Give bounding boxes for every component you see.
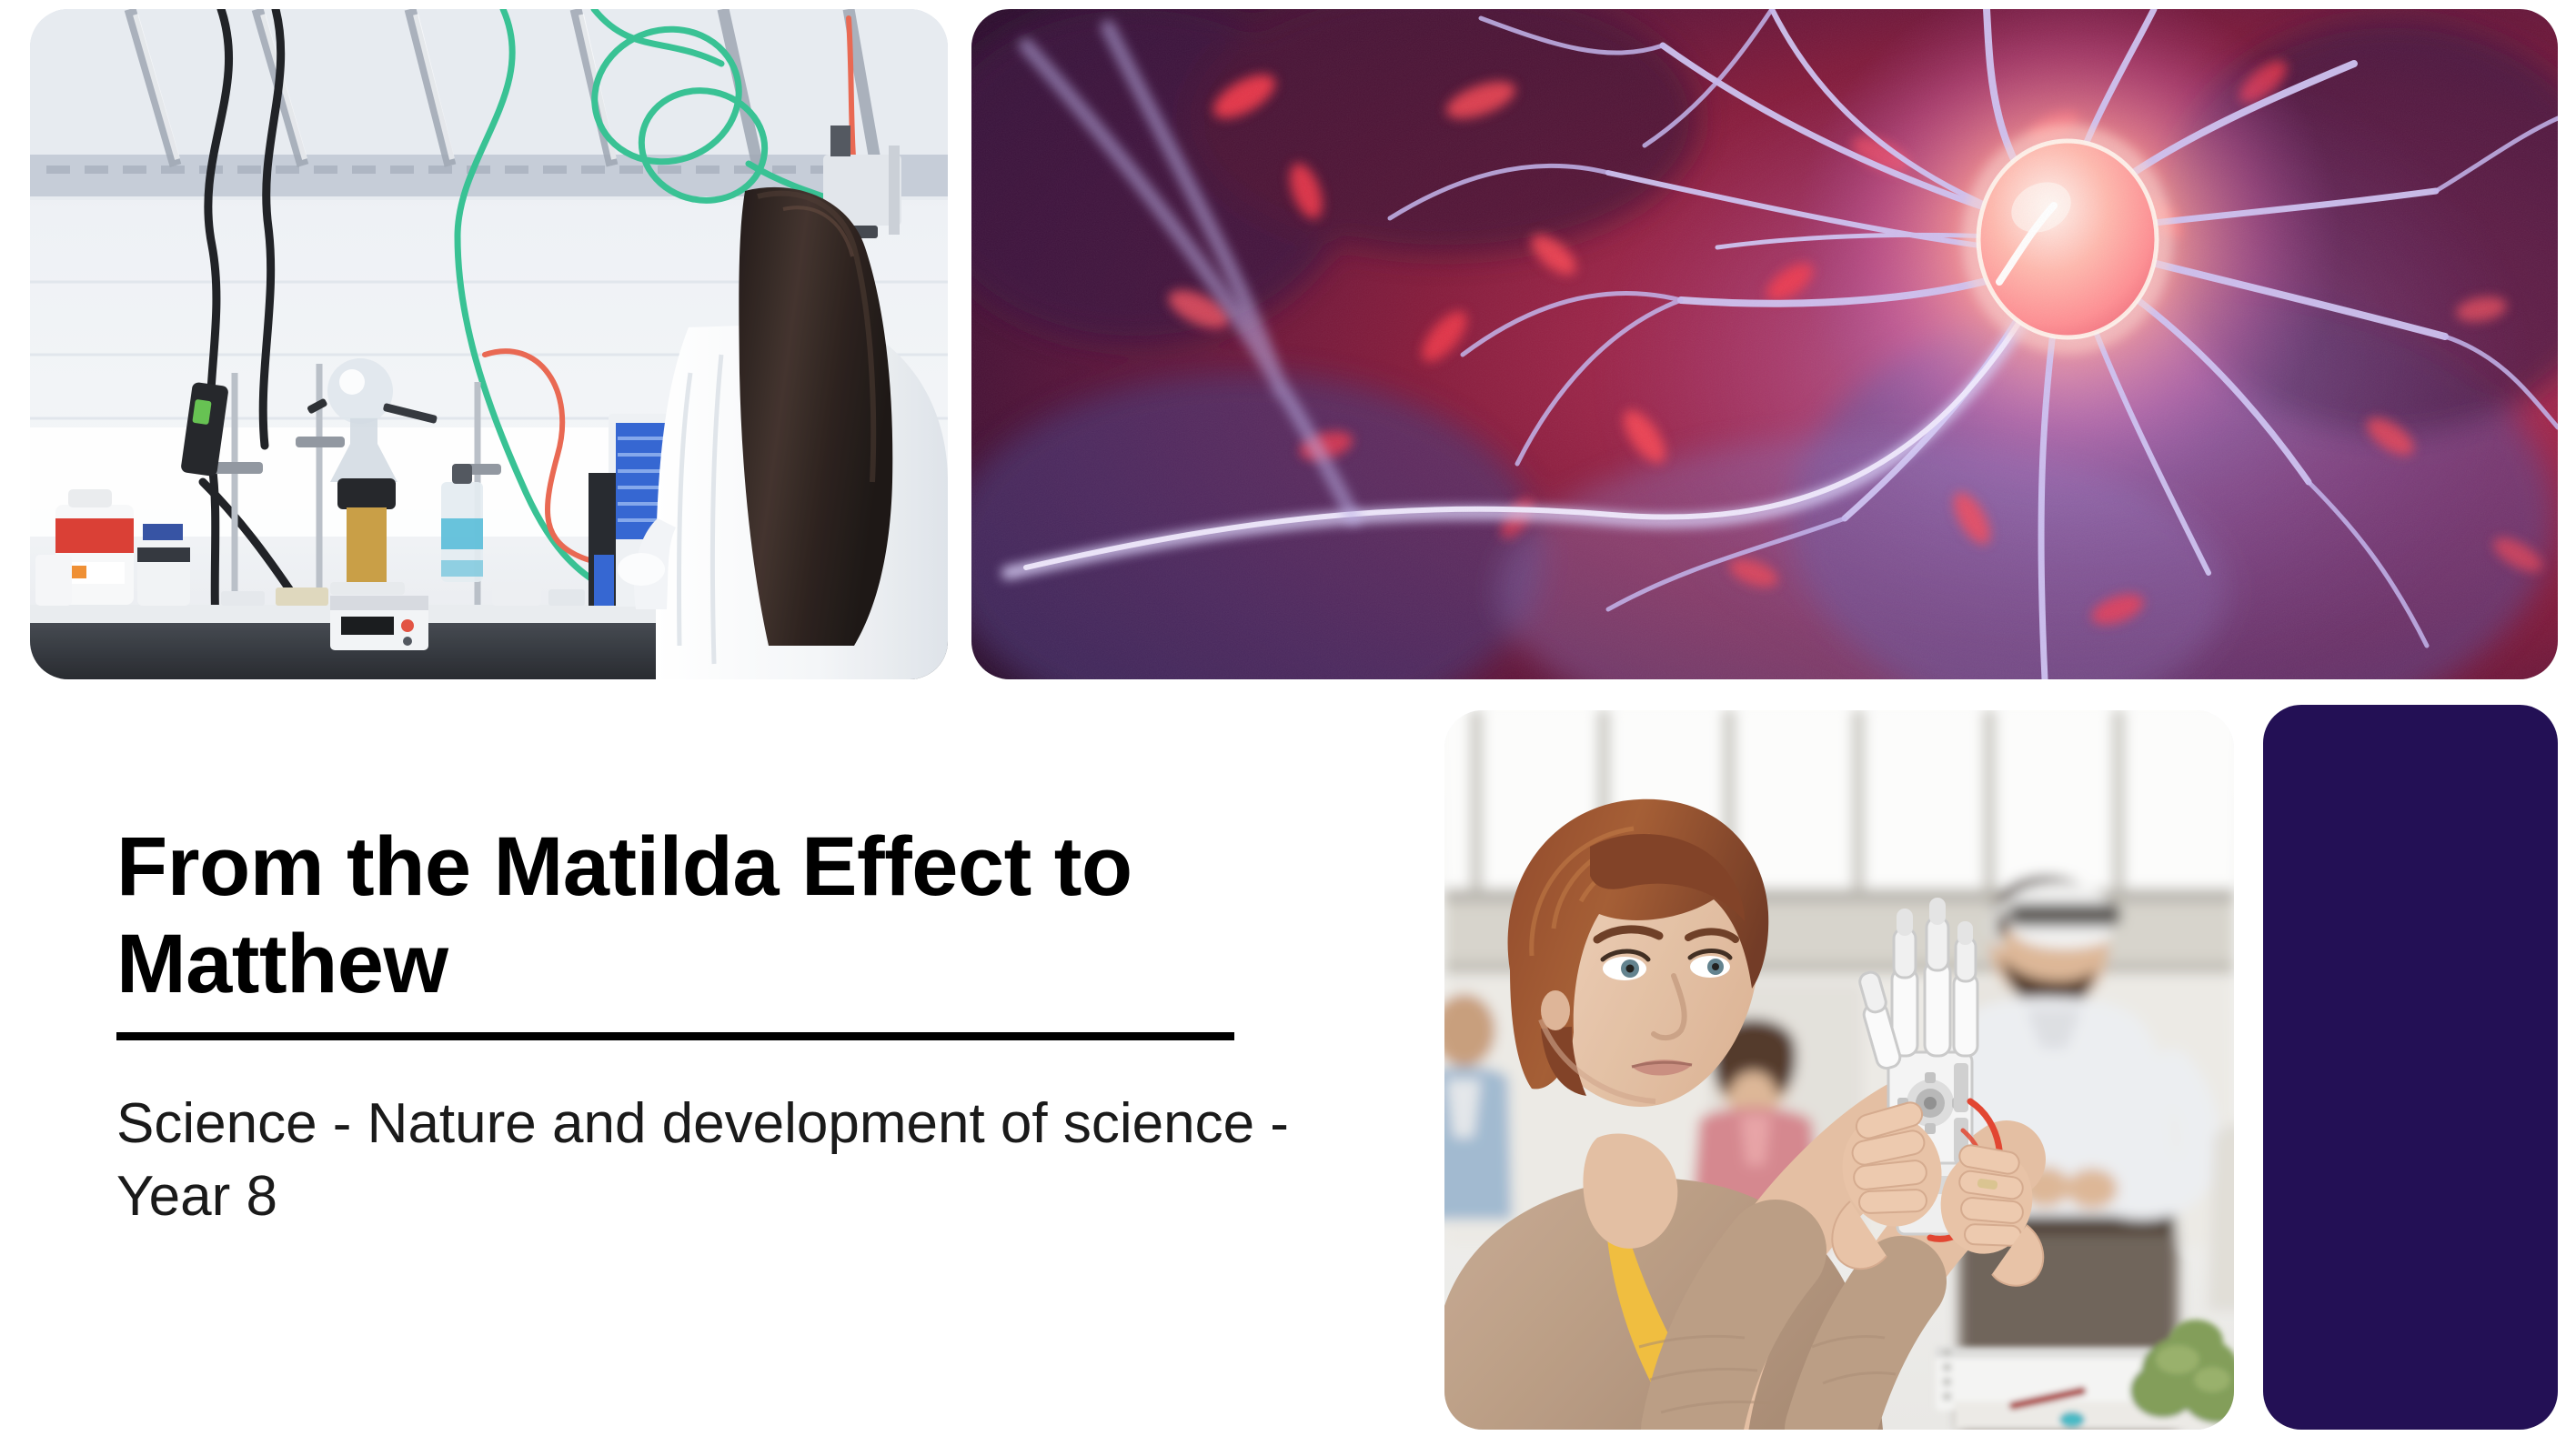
neuron-plasma-photo-card: [971, 9, 2558, 679]
lab-photo-card: [30, 9, 948, 679]
lab-photo-illustration: [30, 9, 948, 679]
brand-panel: COOL.ORG: [2263, 705, 2558, 1430]
slide-text-block: From the Matilda Effect to Matthew Scien…: [116, 818, 1390, 1232]
page-subtitle: Science - Nature and development of scie…: [116, 1088, 1326, 1232]
neuron-plasma-illustration: [971, 9, 2558, 679]
robotics-classroom-illustration: [1444, 710, 2234, 1430]
robotics-classroom-photo-card: [1444, 710, 2234, 1430]
title-slide: COOL.ORG From the Matilda Effect to Matt…: [0, 0, 2576, 1446]
page-title: From the Matilda Effect to Matthew: [116, 818, 1326, 1012]
title-divider: [116, 1032, 1234, 1040]
